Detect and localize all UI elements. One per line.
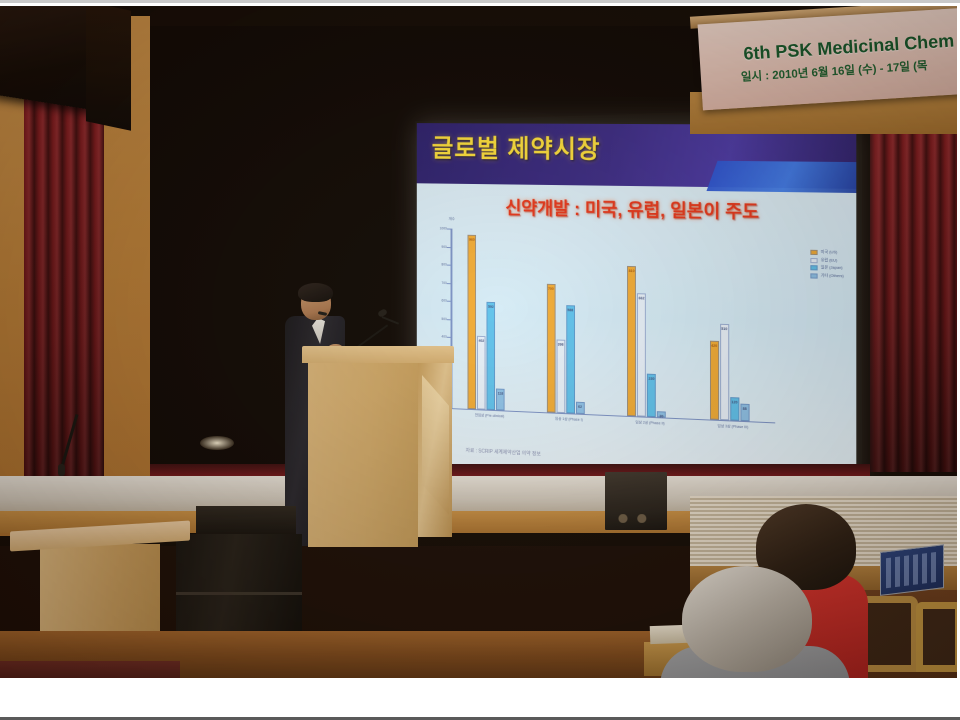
x-axis-tick-label: 임상 2상 (Phase II) [607,418,693,427]
event-banner: 6th PSK Medicinal Chem 일시 : 2010년 6월 16일… [698,8,957,111]
legend-swatch [810,273,817,278]
projected-slide: 글로벌 제약시장 신약개발 : 미국, 유럽, 일본이 주도 개수 010020… [417,123,857,488]
bar: 62 [576,402,585,414]
bar-value-label: 588 [567,308,573,312]
legend-swatch [810,257,817,262]
legend-label: 일본 (Japan) [821,265,843,271]
legend-entry: 유럽 (EU) [810,257,843,263]
bar: 120 [730,397,739,420]
y-axis-tick-label: 500 [441,317,446,321]
lectern-top-surface [302,346,454,363]
audience-member-grey-hair [682,566,812,672]
lectern-main [306,346,451,546]
audience-chair-right [916,602,957,672]
lectern-front-panel [308,361,418,547]
slide-title: 글로벌 제약시장 [432,129,601,166]
bar: 510 [720,324,729,420]
y-axis-tick-label: 600 [441,299,446,303]
y-axis-tick [447,229,452,230]
bar-value-label: 88 [743,407,747,411]
bar-value-label: 700 [548,287,554,291]
legend-entry: 일본 (Japan) [810,265,843,271]
legend-entry: 미국 (US) [810,250,843,256]
bar-group: 960402592118전임상 (Pre-clinical) [468,227,505,410]
bar-value-label: 592 [488,305,494,309]
bar-group: 81066223030임상 2상 (Phase II) [627,230,666,417]
bar: 402 [477,336,486,409]
bar: 588 [566,305,575,413]
ceiling-speaker-box-secondary [86,6,131,131]
slide-body: 신약개발 : 미국, 유럽, 일본이 주도 개수 010020030040050… [417,183,857,488]
y-axis-tick [447,319,452,320]
bar: 230 [647,374,656,417]
bar-value-label: 118 [498,391,504,395]
legend-entry: 기타 (Others) [810,273,843,279]
x-axis-tick-label: 임상 3상 (Phase III) [689,422,776,431]
y-axis-tick-label: 700 [441,281,446,285]
audience-laptop [880,544,944,596]
bar: 398 [556,339,565,412]
bar-value-label: 120 [731,401,737,405]
y-axis-tick-label: 400 [441,335,446,339]
chart-subtitle: 신약개발 : 미국, 유럽, 일본이 주도 [417,193,857,226]
legend-label: 미국 (US) [821,250,838,255]
legend-swatch [810,265,817,270]
y-axis-tick [447,247,452,248]
y-axis-tick [447,301,452,302]
secondary-microphone-capsule-icon [58,464,65,476]
y-axis-tick [447,283,452,284]
hall-carpet [0,661,180,678]
microphone-gooseneck-upper [382,316,399,325]
stage-monitor-speaker [605,472,667,530]
bar-value-label: 402 [479,339,485,343]
y-axis-title: 개수 [449,217,455,222]
bar: 960 [468,235,477,409]
x-axis-tick-label: 전임상 (Pre-clinical) [449,411,531,420]
microphone-capsule-icon [377,308,388,318]
stage-curtain-right [856,116,957,472]
stage-floor-light [200,436,234,450]
bar-group: 42051012088임상 3상 (Phase III) [710,232,750,421]
lectern-side-panel [418,361,452,537]
bar-value-label: 398 [558,342,564,346]
legend-label: 유럽 (EU) [821,258,838,264]
bar-group: 70039858862임상 1상 (Phase I) [547,229,585,414]
bar-chart-plot-area: 개수 01002003004005006007008009001000 9604… [451,229,776,424]
audience-group [690,496,957,678]
y-axis-tick-label: 900 [441,244,446,248]
chart-legend: 미국 (US)유럽 (EU)일본 (Japan)기타 (Others) [810,250,843,282]
bar: 592 [487,302,496,410]
bar-value-label: 62 [578,405,582,409]
conference-photograph: 글로벌 제약시장 신약개발 : 미국, 유럽, 일본이 주도 개수 010020… [0,6,957,678]
bar-value-label: 810 [629,269,635,273]
photo-frame: 글로벌 제약시장 신약개발 : 미국, 유럽, 일본이 주도 개수 010020… [0,0,960,720]
bar: 118 [496,388,505,410]
legend-label: 기타 (Others) [821,273,844,279]
bar: 700 [547,284,556,412]
bar-value-label: 662 [639,296,645,300]
bar-value-label: 30 [659,414,663,418]
y-axis-tick-label: 800 [441,263,446,267]
wall-edge-left [0,92,24,536]
presenter-hair [298,283,333,302]
bar-value-label: 420 [711,344,717,348]
bar-value-label: 510 [721,327,727,331]
legend-swatch [810,250,817,255]
bar-value-label: 230 [648,377,654,381]
bar-value-label: 960 [469,238,475,242]
bar: 662 [637,293,646,416]
bar: 88 [740,404,749,421]
bar: 420 [710,340,719,419]
audience-chair-left [860,596,918,672]
y-axis-tick-label: 1000 [440,226,447,230]
bar: 810 [627,266,636,416]
x-axis-tick-label: 임상 1상 (Phase I) [527,415,611,424]
y-axis-tick [447,265,452,266]
bar-groups: 960402592118전임상 (Pre-clinical)7003985886… [451,229,776,235]
y-axis-tick [447,337,452,338]
bar: 30 [657,411,666,417]
